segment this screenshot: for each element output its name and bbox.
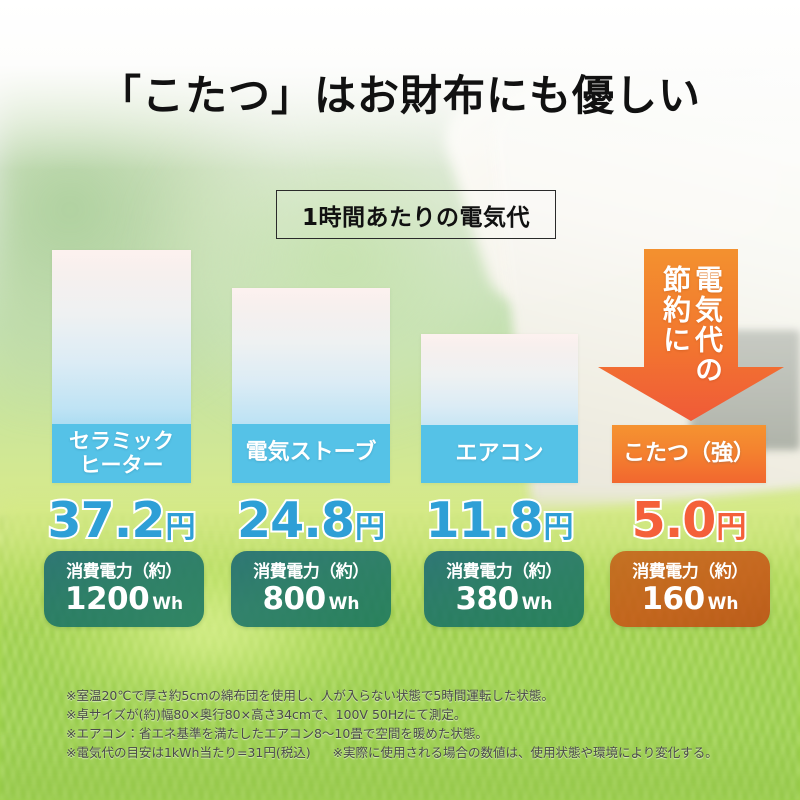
price-currency: 円 <box>543 502 573 546</box>
subtitle-label: 1時間あたりの電気代 <box>302 198 530 232</box>
wattage-unit: Wh <box>152 596 183 613</box>
infographic-canvas: 「こたつ」はお財布にも優しい 1時間あたりの電気代 セラミック ヒーター 37.… <box>0 0 800 800</box>
footnote-line-1: ※室温20℃で厚さ約5cmの綿布団を使用し、人が入らない状態で5時間運転した状態… <box>66 686 766 705</box>
footnote-line-2: ※卓サイズが(約)幅80×奥行80×高さ34cmで、100V 50Hzにて測定。 <box>66 705 766 724</box>
bar-electric-stove: 電気ストーブ <box>232 288 390 483</box>
bar-label-line1: 電気ストーブ <box>246 441 377 466</box>
wattage-value: 1200 <box>65 584 149 615</box>
price-currency: 円 <box>355 502 385 546</box>
wattage-badge-ceramic-heater: 消費電力（約） 1200 Wh <box>44 551 204 627</box>
arrow-text-line1: 電気代の <box>693 265 721 415</box>
footnote-line-4a: ※電気代の目安は1kWh当たり=31円(税込) <box>66 745 311 760</box>
bar-label-ceramic-heater: セラミック ヒーター <box>52 424 191 483</box>
bar-label-line1: エアコン <box>455 442 543 467</box>
bar-kotatsu: こたつ（強） <box>612 425 766 483</box>
bar-ceramic-heater: セラミック ヒーター <box>52 250 191 483</box>
bar-label-line1: こたつ（強） <box>623 442 755 467</box>
savings-arrow: 電気代の 節約に <box>598 249 784 421</box>
wattage-unit: Wh <box>329 596 360 613</box>
bar-label-kotatsu: こたつ（強） <box>612 425 766 483</box>
bar-label-line1: セラミック <box>69 430 174 454</box>
arrow-text-line2: 節約に <box>661 265 689 415</box>
wattage-badge-electric-stove: 消費電力（約） 800 Wh <box>231 551 391 627</box>
price-air-conditioner: 11.8 円 <box>421 492 578 549</box>
bar-label-electric-stove: 電気ストーブ <box>232 424 390 483</box>
bar-air-conditioner: エアコン <box>421 334 578 483</box>
price-value: 11.8 <box>426 492 543 549</box>
wattage-label: 消費電力（約） <box>632 564 748 581</box>
footnote-line-3: ※エアコン：省エネ基準を満たしたエアコン8〜10畳で空間を暖めた状態。 <box>66 724 766 743</box>
footnotes: ※室温20℃で厚さ約5cmの綿布団を使用し、人が入らない状態で5時間運転した状態… <box>66 686 766 762</box>
wattage-value: 800 <box>262 584 325 615</box>
wattage-unit: Wh <box>708 596 739 613</box>
wattage-badge-kotatsu: 消費電力（約） 160 Wh <box>610 551 770 627</box>
bar-label-line2: ヒーター <box>80 454 164 478</box>
wattage-label: 消費電力（約） <box>446 564 562 581</box>
footnote-line-4: ※電気代の目安は1kWh当たり=31円(税込) ※実際に使用される場合の数値は、… <box>66 743 766 762</box>
page-title: 「こたつ」はお財布にも優しい <box>0 62 800 123</box>
price-electric-stove: 24.8 円 <box>232 492 390 549</box>
price-currency: 円 <box>165 502 195 546</box>
wattage-unit: Wh <box>522 596 553 613</box>
price-value: 24.8 <box>237 492 354 549</box>
bar-label-air-conditioner: エアコン <box>421 425 578 483</box>
wattage-label: 消費電力（約） <box>253 564 369 581</box>
price-ceramic-heater: 37.2 円 <box>52 492 191 549</box>
wattage-value: 380 <box>455 584 518 615</box>
footnote-line-4b: ※実際に使用される場合の数値は、使用状態や環境により変化する。 <box>333 745 718 760</box>
wattage-value: 160 <box>641 584 704 615</box>
wattage-label: 消費電力（約） <box>66 564 182 581</box>
price-kotatsu: 5.0 円 <box>612 492 766 549</box>
price-value: 37.2 <box>48 492 165 549</box>
subtitle-box: 1時間あたりの電気代 <box>276 190 556 239</box>
price-value: 5.0 <box>632 492 716 549</box>
price-currency: 円 <box>716 502 746 546</box>
wattage-badge-air-conditioner: 消費電力（約） 380 Wh <box>424 551 584 627</box>
